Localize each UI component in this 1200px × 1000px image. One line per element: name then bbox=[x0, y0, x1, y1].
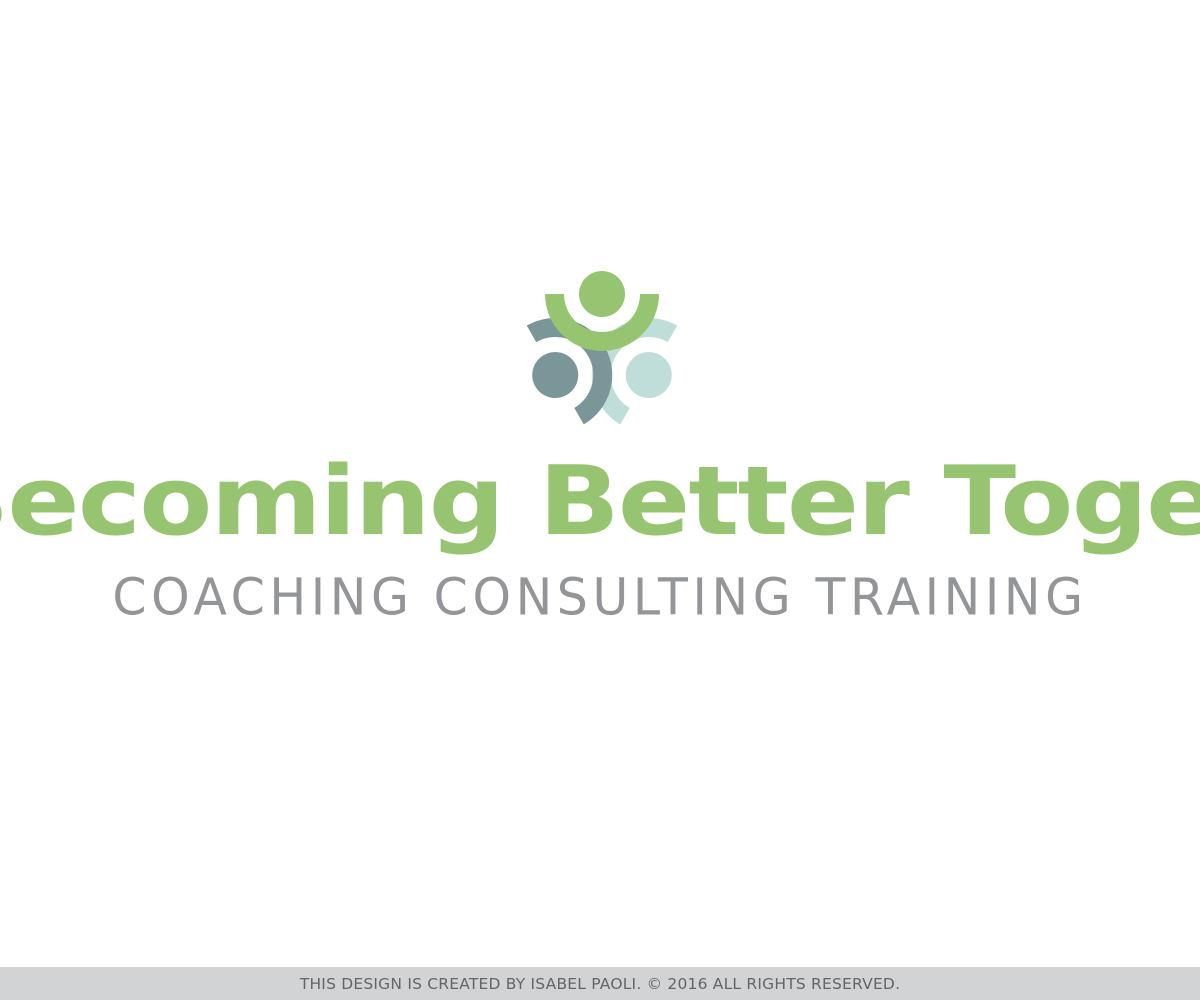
logo-mark bbox=[516, 262, 688, 434]
wordmark: Becoming Better Together COACHING CONSUL… bbox=[0, 455, 1200, 620]
brand-tagline: COACHING CONSULTING TRAINING bbox=[0, 572, 1200, 623]
brand-name: Becoming Better Together bbox=[0, 455, 1200, 550]
green-person-figure bbox=[545, 271, 659, 351]
footer-bar: THIS DESIGN IS CREATED BY ISABEL PAOLI. … bbox=[0, 967, 1200, 1000]
logo-canvas: Becoming Better Together COACHING CONSUL… bbox=[0, 0, 1200, 967]
footer-credit-text: THIS DESIGN IS CREATED BY ISABEL PAOLI. … bbox=[300, 975, 900, 993]
three-people-circle-icon bbox=[516, 262, 688, 434]
